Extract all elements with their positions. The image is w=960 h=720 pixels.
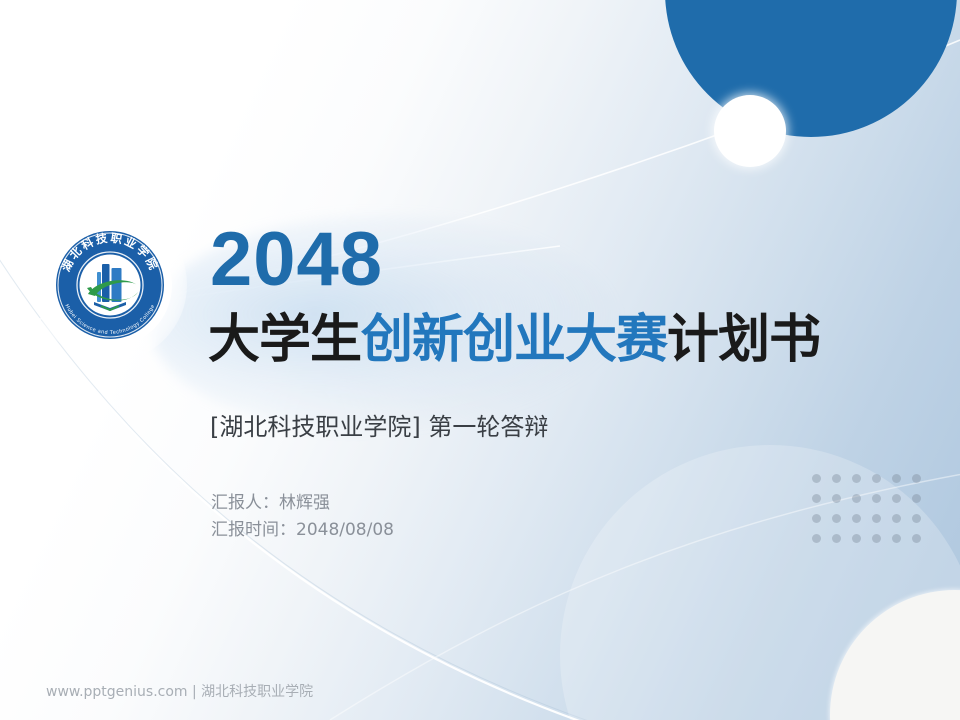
institution-logo: 湖北科技职业学院 Hubei Science and Technology Co… bbox=[47, 222, 173, 348]
subtitle: [湖北科技职业学院] 第一轮答辩 bbox=[210, 407, 548, 442]
presenter-line: 汇报人：林辉强 bbox=[211, 490, 394, 517]
page-title-lead: 大学生 bbox=[208, 310, 361, 370]
footer-credit: www.pptgenius.com | 湖北科技职业学院 bbox=[46, 681, 313, 701]
decorative-circle-white-top-right bbox=[714, 95, 786, 167]
presentation-meta: 汇报人：林辉强 汇报时间：2048/08/08 bbox=[211, 490, 394, 544]
decorative-dot-grid bbox=[812, 474, 932, 554]
year-heading: 2048 bbox=[210, 222, 383, 298]
page-title-accent: 创新创业大赛 bbox=[361, 310, 667, 370]
decorative-circle-blue-top-right bbox=[665, 0, 957, 137]
decorative-circle-white-bottom-right bbox=[830, 590, 960, 720]
decorative-soft-circle-bottom bbox=[560, 445, 960, 720]
presentation-title-slide: 湖北科技职业学院 Hubei Science and Technology Co… bbox=[0, 0, 960, 720]
page-title-tail: 计划书 bbox=[667, 310, 820, 370]
page-title: 大学生创新创业大赛计划书 bbox=[208, 312, 820, 368]
date-line: 汇报时间：2048/08/08 bbox=[211, 517, 394, 544]
institution-seal-icon: 湖北科技职业学院 Hubei Science and Technology Co… bbox=[47, 222, 173, 348]
